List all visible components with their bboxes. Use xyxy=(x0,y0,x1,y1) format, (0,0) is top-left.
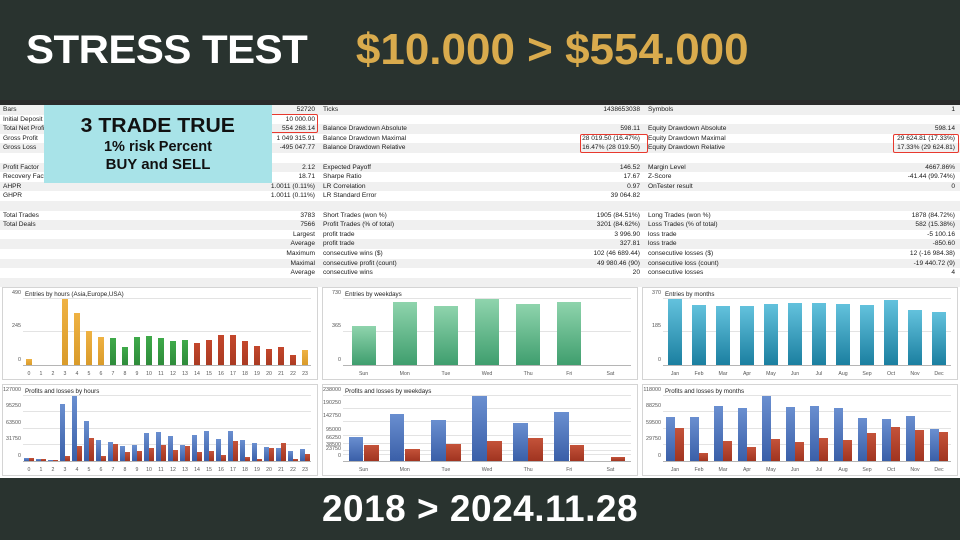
chart-bar xyxy=(690,417,699,461)
chart-axis-line xyxy=(343,365,631,366)
stat-row-spacer xyxy=(645,201,960,211)
chart-bar xyxy=(36,459,40,461)
chart-bar xyxy=(134,337,141,364)
chart-bar-group xyxy=(903,396,927,461)
stat-label: Gross Profit xyxy=(3,134,38,144)
stat-row-spacer: Average xyxy=(0,268,320,278)
chart-bar xyxy=(393,302,417,365)
stat-label: Z-Score xyxy=(648,172,671,182)
chart-bar-group xyxy=(831,299,855,364)
chart-bar xyxy=(62,299,69,364)
chart-bar xyxy=(197,452,201,461)
chart-bar-group xyxy=(287,396,299,461)
chart-x-tick-label: 3 xyxy=(59,371,71,377)
chart-x-tick-label: 9 xyxy=(131,467,143,473)
chart-x-tick-label: Mon xyxy=(384,371,425,377)
chart-x-tick-label: 1 xyxy=(35,371,47,377)
chart-bars xyxy=(663,299,951,364)
chart-bar xyxy=(149,448,153,461)
chart-bar xyxy=(264,447,268,461)
stat-value: Average xyxy=(291,268,315,278)
chart-plot-area: 0317506350095250127000 xyxy=(23,396,311,462)
chart-bar-group xyxy=(263,299,275,364)
chart-x-tick-label: 11 xyxy=(155,371,167,377)
stat-label: Total Trades xyxy=(3,211,39,221)
stat-value: 17.67 xyxy=(623,172,640,182)
stat-row: consecutive loss (count)-19 440.72 (9) xyxy=(645,259,960,269)
chart-bar xyxy=(29,458,33,461)
stat-label: consecutive wins ($) xyxy=(323,249,383,259)
stat-label: GHPR xyxy=(3,191,22,201)
chart-bar-group xyxy=(663,396,687,461)
banner-line-3: BUY and SELL xyxy=(106,156,211,173)
stat-row: Expected Payoff146.52 xyxy=(320,163,645,173)
stat-value: 1 xyxy=(951,105,955,115)
stat-value: 12 (-16 984.38) xyxy=(910,249,955,259)
chart-bar-group xyxy=(549,396,590,461)
stat-label: Balance Drawdown Absolute xyxy=(323,124,407,134)
chart-x-tick-label: Sat xyxy=(590,371,631,377)
chart-bar-group xyxy=(251,396,263,461)
stat-value: 3783 xyxy=(300,211,315,221)
stat-row: Balance Drawdown Absolute598.11 xyxy=(320,124,645,134)
chart-x-labels: SunMonTueWedThuFriSat xyxy=(343,371,631,377)
chart-bar-group xyxy=(119,396,131,461)
chart-y-tick-label: 238000 xyxy=(323,387,341,393)
chart-y-tick-label: 490 xyxy=(12,290,21,296)
chart-bar xyxy=(74,313,81,365)
chart-bar xyxy=(891,427,900,461)
stat-label: OnTester result xyxy=(648,182,693,192)
chart-bar-group xyxy=(831,396,855,461)
chart-plot-area: 0365730 xyxy=(343,299,631,365)
chart-axis-line xyxy=(663,365,951,366)
stat-value: 29 624.81 (17.33%) xyxy=(897,134,955,144)
chart-y-tick-label: 190250 xyxy=(323,400,341,406)
chart-bar xyxy=(930,429,939,461)
chart-x-tick-label: Mon xyxy=(384,467,425,473)
chart-bar-group xyxy=(783,396,807,461)
stat-value: 0.97 xyxy=(627,182,640,192)
chart-bar xyxy=(434,306,458,365)
chart-column-2: Entries by weekdays0365730SunMonTueWedTh… xyxy=(322,287,638,476)
chart-bar-group xyxy=(855,396,879,461)
chart-bar xyxy=(132,445,136,461)
chart-bar xyxy=(65,456,69,461)
chart-x-tick-label: 5 xyxy=(83,467,95,473)
chart-bar-group xyxy=(191,299,203,364)
chart-bar xyxy=(24,458,28,461)
chart-x-tick-label: Nov xyxy=(903,371,927,377)
chart-bar xyxy=(233,441,237,461)
stat-value: 4 xyxy=(951,268,955,278)
chart-bar-group xyxy=(807,299,831,364)
chart-bar-group xyxy=(215,396,227,461)
chart-x-labels: SunMonTueWedThuFriSat xyxy=(343,467,631,473)
stat-value: 28 019.50 (16.47%) xyxy=(582,134,640,144)
stat-value: 18.71 xyxy=(298,172,315,182)
chart-x-tick-label: 13 xyxy=(179,467,191,473)
chart-bar xyxy=(269,448,273,461)
chart-x-tick-label: Oct xyxy=(879,467,903,473)
chart-bars xyxy=(23,299,311,364)
chart-bar xyxy=(252,443,256,461)
chart-bar xyxy=(77,446,81,461)
stat-row: Ticks1438653038 xyxy=(320,105,645,115)
chart-bar-group xyxy=(35,396,47,461)
chart-bar xyxy=(245,457,249,461)
stat-value: 52720 xyxy=(297,105,315,115)
stat-label: Short Trades (won %) xyxy=(323,211,387,221)
stat-value: 20 xyxy=(633,268,640,278)
chart-y-tick-label: 245 xyxy=(12,323,21,329)
stat-value: 4667.86% xyxy=(925,163,955,173)
chart-bar-group xyxy=(71,299,83,364)
chart-bar xyxy=(137,451,141,461)
chart-x-tick-label: Mar xyxy=(711,467,735,473)
chart-bar-group xyxy=(711,299,735,364)
stat-row: Z-Score-41.44 (99.74%) xyxy=(645,172,960,182)
chart-x-tick-label: 5 xyxy=(83,371,95,377)
stat-label: consecutive losses ($) xyxy=(648,249,713,259)
chart-bar xyxy=(819,438,828,461)
chart-bar-group xyxy=(119,299,131,364)
stat-row-spacer: Average xyxy=(0,239,320,249)
chart-bar-group xyxy=(59,396,71,461)
stat-row: Total Trades3783 xyxy=(0,211,320,221)
stat-value: Average xyxy=(291,239,315,249)
stat-value: 1.0011 (0.11%) xyxy=(271,191,315,201)
chart-x-tick-label: 16 xyxy=(215,371,227,377)
chart-x-tick-label: Aug xyxy=(831,371,855,377)
chart-x-tick-label: 22 xyxy=(287,371,299,377)
chart-y-tick-label: 95250 xyxy=(6,403,21,409)
chart-x-tick-label: 19 xyxy=(251,467,263,473)
stat-value: 598.14 xyxy=(935,124,955,134)
chart-bar xyxy=(771,439,780,461)
stat-label: loss trade xyxy=(648,239,677,249)
stat-row-spacer xyxy=(0,278,320,288)
stat-row: Equity Drawdown Maximal29 624.81 (17.33%… xyxy=(645,134,960,144)
chart-x-tick-label: Sep xyxy=(855,467,879,473)
chart-entries-by-months: Entries by months0185370JanFebMarAprMayJ… xyxy=(642,287,958,379)
chart-y-tick-label: 0 xyxy=(18,453,21,459)
chart-bar xyxy=(666,417,675,461)
chart-x-tick-label: Sun xyxy=(343,467,384,473)
chart-bar-group xyxy=(203,299,215,364)
chart-bar xyxy=(843,440,852,461)
chart-x-tick-label: 4 xyxy=(71,371,83,377)
chart-bar-group xyxy=(107,396,119,461)
date-range-label: 2018 > 2024.11.28 xyxy=(322,488,638,530)
chart-bar xyxy=(156,432,160,461)
chart-bar xyxy=(747,447,756,461)
stat-value: Maximum xyxy=(286,249,315,259)
chart-bar-group xyxy=(287,299,299,364)
stat-row: OnTester result0 xyxy=(645,182,960,192)
chart-x-tick-label: 8 xyxy=(119,467,131,473)
stat-value: 1.0011 (0.11%) xyxy=(271,182,315,192)
chart-bar-group xyxy=(131,396,143,461)
chart-bar-group xyxy=(508,299,549,364)
chart-x-tick-label: 6 xyxy=(95,371,107,377)
stat-label: loss trade xyxy=(648,230,677,240)
stat-label: Expected Payoff xyxy=(323,163,371,173)
chart-bar xyxy=(146,336,153,364)
stat-label: consecutive losses xyxy=(648,268,703,278)
chart-bar xyxy=(254,346,261,365)
chart-x-tick-label: Wed xyxy=(466,467,507,473)
chart-plot-area: 238000190250142750950006625038500237500 xyxy=(343,396,631,462)
chart-bar-group xyxy=(59,299,71,364)
stat-value: 49 980.46 (90) xyxy=(597,259,640,269)
chart-profits-losses-by-hours: Profits and losses by hours0317506350095… xyxy=(2,384,318,476)
chart-y-tick-label: 0 xyxy=(658,357,661,363)
stat-value: 39 064.82 xyxy=(611,191,640,201)
stat-value: 1 049 315.91 xyxy=(276,134,315,144)
stat-value: 10 000.00 xyxy=(286,115,315,125)
chart-bar xyxy=(221,455,225,461)
chart-bar-group xyxy=(47,396,59,461)
chart-x-tick-label: Sat xyxy=(590,467,631,473)
stat-row: Loss Trades (% of total)582 (15.38%) xyxy=(645,220,960,230)
stat-value: -41.44 (99.74%) xyxy=(908,172,955,182)
chart-bar-group xyxy=(95,299,107,364)
chart-x-tick-label: Sep xyxy=(855,371,879,377)
chart-y-tick-label: 365 xyxy=(332,323,341,329)
chart-bar xyxy=(786,407,795,461)
chart-bar xyxy=(487,441,502,461)
chart-bar xyxy=(122,347,129,365)
stat-label: consecutive wins xyxy=(323,268,373,278)
chart-x-tick-label: 9 xyxy=(131,371,143,377)
stat-label: consecutive loss (count) xyxy=(648,259,719,269)
stat-label: Sharpe Ratio xyxy=(323,172,362,182)
chart-bars xyxy=(663,396,951,461)
stat-row: Total Deals7566 xyxy=(0,220,320,230)
chart-x-tick-label: 17 xyxy=(227,371,239,377)
stat-value: 1905 (84.51%) xyxy=(597,211,640,221)
chart-x-tick-label: 4 xyxy=(71,467,83,473)
chart-bar xyxy=(72,396,76,461)
chart-y-tick-label: 29750 xyxy=(646,436,661,442)
stat-row-spacer: Maximum xyxy=(0,249,320,259)
chart-bar xyxy=(293,459,297,461)
chart-x-tick-label: Apr xyxy=(735,467,759,473)
stat-row: Balance Drawdown Relative16.47% (28 019.… xyxy=(320,143,645,153)
chart-bar xyxy=(240,440,244,461)
stat-row: Equity Drawdown Absolute598.14 xyxy=(645,124,960,134)
chart-y-tick-label: 0 xyxy=(18,357,21,363)
chart-bar xyxy=(352,326,376,365)
chart-bar-group xyxy=(299,396,311,461)
chart-bar-group xyxy=(590,396,631,461)
chart-x-tick-label: Sun xyxy=(343,371,384,377)
stat-row-spacer xyxy=(645,115,960,125)
stat-value: 3201 (84.62%) xyxy=(597,220,640,230)
chart-bar-group xyxy=(155,299,167,364)
chart-bar xyxy=(96,440,100,461)
chart-bar xyxy=(795,442,804,461)
stat-row: profit trade327.81 xyxy=(320,239,645,249)
chart-y-tick-label: 730 xyxy=(332,290,341,296)
chart-bar xyxy=(908,310,922,365)
chart-bar xyxy=(528,438,543,461)
chart-bars xyxy=(343,396,631,461)
chart-y-tick-label: 66250 xyxy=(326,435,341,441)
chart-bar-group xyxy=(663,299,687,364)
chart-axis-line xyxy=(663,461,951,462)
stat-value: -5 100.16 xyxy=(927,230,955,240)
chart-bar xyxy=(125,452,129,461)
chart-x-tick-label: 12 xyxy=(167,371,179,377)
header-banner: STRESS TEST $10.000 > $554.000 xyxy=(0,0,960,100)
chart-bar xyxy=(516,304,540,364)
chart-bar xyxy=(867,433,876,461)
chart-x-tick-label: 22 xyxy=(287,467,299,473)
chart-bar xyxy=(675,428,684,461)
chart-x-tick-label: Jun xyxy=(783,371,807,377)
stat-row: Balance Drawdown Maximal28 019.50 (16.47… xyxy=(320,134,645,144)
chart-plot-area: 1180008825059500297500 xyxy=(663,396,951,462)
chart-bar xyxy=(570,445,585,461)
stat-label: profit trade xyxy=(323,239,355,249)
chart-y-tick-label: 0 xyxy=(338,357,341,363)
chart-bar xyxy=(60,404,64,461)
chart-profits-losses-by-weekdays: Profits and losses by weekdays2380001902… xyxy=(322,384,638,476)
chart-bar-group xyxy=(783,299,807,364)
chart-x-tick-label: 23 xyxy=(299,371,311,377)
stat-row: LR Standard Error39 064.82 xyxy=(320,191,645,201)
chart-bar xyxy=(762,396,771,461)
chart-x-tick-label: 0 xyxy=(23,371,35,377)
stat-label: Long Trades (won %) xyxy=(648,211,711,221)
chart-y-tick-label: 185 xyxy=(652,323,661,329)
chart-bar xyxy=(300,449,304,461)
chart-bar-group xyxy=(35,299,47,364)
stat-row: Equity Drawdown Relative17.33% (29 624.8… xyxy=(645,143,960,153)
chart-bar-group xyxy=(508,396,549,461)
chart-bar-group xyxy=(155,396,167,461)
chart-x-tick-label: 12 xyxy=(167,467,179,473)
chart-x-tick-label: Jan xyxy=(663,467,687,473)
stat-row: Short Trades (won %)1905 (84.51%) xyxy=(320,211,645,221)
stat-value: -495 047.77 xyxy=(280,143,315,153)
chart-x-tick-label: 2 xyxy=(47,467,59,473)
chart-bar xyxy=(204,431,208,461)
stat-label: Equity Drawdown Absolute xyxy=(648,124,726,134)
stat-row: profit trade3 996.90 xyxy=(320,230,645,240)
stat-value: -850.60 xyxy=(933,239,955,249)
chart-bar xyxy=(26,359,33,364)
chart-axis-line xyxy=(23,365,311,366)
chart-bar xyxy=(98,337,105,364)
chart-bar xyxy=(144,433,148,461)
stat-row-spacer: Largest xyxy=(0,230,320,240)
stat-label: Margin Level xyxy=(648,163,686,173)
chart-x-tick-label: 20 xyxy=(263,467,275,473)
chart-bar-group xyxy=(251,299,263,364)
chart-x-tick-label: Tue xyxy=(425,467,466,473)
chart-x-tick-label: Dec xyxy=(927,371,951,377)
chart-bar-group xyxy=(215,299,227,364)
stat-label: Loss Trades (% of total) xyxy=(648,220,718,230)
chart-x-tick-label: Nov xyxy=(903,467,927,473)
page-title: STRESS TEST xyxy=(26,28,307,73)
chart-bar xyxy=(932,312,946,365)
chart-bar xyxy=(738,408,747,461)
stat-row: consecutive losses ($)12 (-16 984.38) xyxy=(645,249,960,259)
chart-bar-group xyxy=(687,299,711,364)
chart-bar-group xyxy=(227,299,239,364)
chart-bar xyxy=(228,431,232,461)
stat-label: Equity Drawdown Maximal xyxy=(648,134,726,144)
chart-bar xyxy=(692,305,706,365)
chart-x-tick-label: Wed xyxy=(466,371,507,377)
chart-bar xyxy=(276,448,280,461)
stat-row: Symbols1 xyxy=(645,105,960,115)
stat-row-spacer xyxy=(645,278,960,288)
chart-bar-group xyxy=(903,299,927,364)
stat-row: consecutive wins ($)102 (46 689.44) xyxy=(320,249,645,259)
chart-bar-group xyxy=(239,396,251,461)
chart-y-tick-label: 59500 xyxy=(646,420,661,426)
chart-bar xyxy=(884,300,898,365)
chart-bar-group xyxy=(203,396,215,461)
chart-y-tick-label: 370 xyxy=(652,290,661,296)
chart-bar-group xyxy=(239,299,251,364)
banner-line-2: 1% risk Percent xyxy=(104,139,212,155)
chart-bar xyxy=(390,414,405,461)
chart-bar xyxy=(185,446,189,461)
chart-bar xyxy=(120,446,124,461)
chart-entries-by-weekdays: Entries by weekdays0365730SunMonTueWedTh… xyxy=(322,287,638,379)
chart-bar-group xyxy=(466,396,507,461)
chart-bar-group xyxy=(143,299,155,364)
stat-value: 582 (15.38%) xyxy=(915,220,955,230)
chart-bar xyxy=(192,435,196,461)
chart-bar-group xyxy=(83,299,95,364)
chart-y-tick-label: 127000 xyxy=(3,387,21,393)
chart-bar xyxy=(86,331,93,365)
chart-bar xyxy=(218,335,225,365)
chart-bar-group xyxy=(711,396,735,461)
chart-bar xyxy=(475,299,499,364)
chart-bar-group xyxy=(927,299,951,364)
chart-x-tick-label: 19 xyxy=(251,371,263,377)
chart-bar xyxy=(89,438,93,461)
chart-x-tick-label: 13 xyxy=(179,371,191,377)
chart-bar-group xyxy=(735,299,759,364)
chart-bar xyxy=(266,349,273,364)
chart-x-tick-label: Jul xyxy=(807,371,831,377)
chart-bar xyxy=(611,457,626,461)
stat-row-spacer xyxy=(645,191,960,201)
chart-bar-group xyxy=(167,396,179,461)
stat-label: Total Net Profit xyxy=(3,124,46,134)
chart-bar-group xyxy=(549,299,590,364)
chart-bar xyxy=(230,335,237,365)
chart-bar xyxy=(915,430,924,461)
chart-bar xyxy=(714,406,723,461)
chart-bar xyxy=(108,442,112,461)
chart-y-tick-label: 88250 xyxy=(646,403,661,409)
chart-bar xyxy=(53,460,57,461)
chart-bar-group xyxy=(71,396,83,461)
chart-bar-group xyxy=(107,299,119,364)
chart-x-tick-label: 7 xyxy=(107,467,119,473)
stat-value: 2.12 xyxy=(302,163,315,173)
